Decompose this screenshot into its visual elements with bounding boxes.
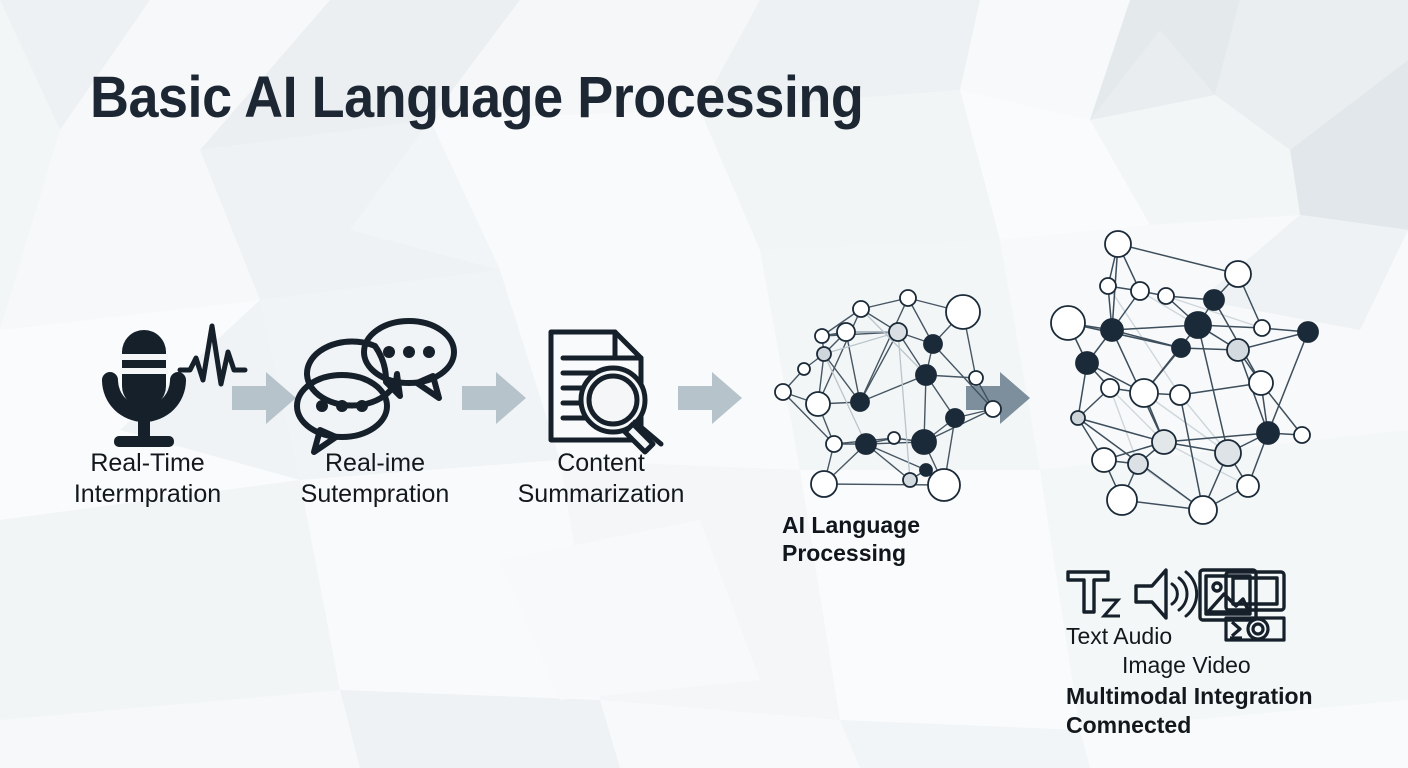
summary-line1: Multimodal Integration (1066, 683, 1313, 709)
modality-line1: Text Audio (1066, 623, 1172, 649)
summary-line2: Comnected (1066, 711, 1313, 740)
network-large-graph (1051, 231, 1318, 524)
slide-canvas: Basic AI Language Processing (0, 0, 1408, 768)
text-subscript-x (1102, 600, 1120, 616)
multimodal-summary-caption: Multimodal Integration Comnected (1066, 682, 1313, 741)
video-monitor-icon (1226, 572, 1284, 610)
modality-caption: Text Audio Image Video (1066, 622, 1251, 681)
text-tx-icon (1068, 572, 1108, 612)
audio-speaker-icon (1136, 570, 1197, 618)
modality-line2: Image Video (1066, 651, 1251, 680)
